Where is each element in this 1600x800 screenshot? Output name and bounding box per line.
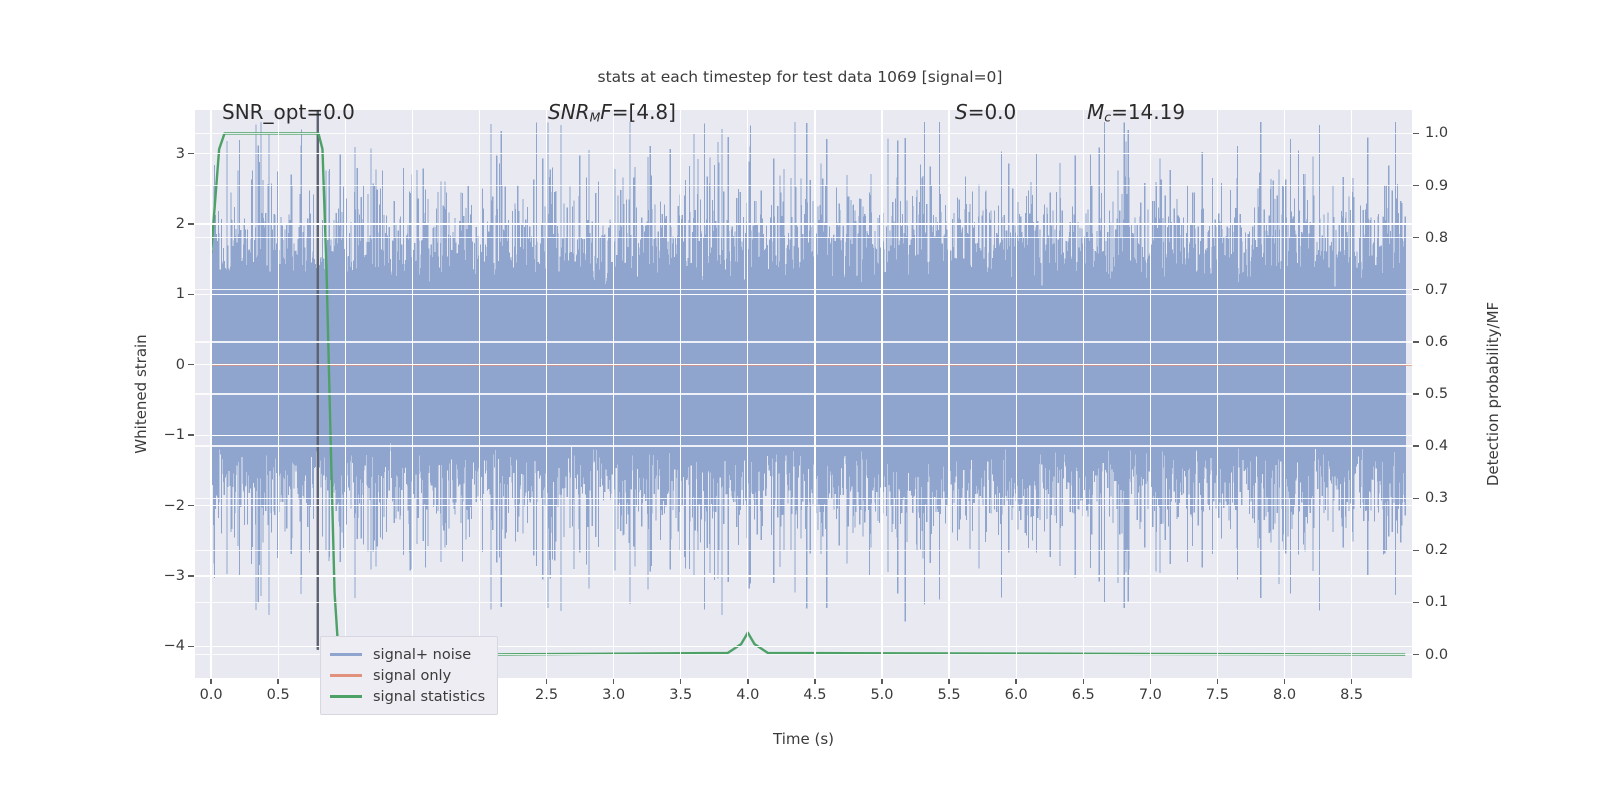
page-title: stats at each timestep for test data 106… — [0, 68, 1600, 86]
gridline-vertical — [479, 110, 480, 678]
gridline-horizontal — [195, 223, 1412, 224]
gridline-horizontal — [195, 505, 1412, 506]
gridline-horizontal-secondary — [195, 498, 1412, 499]
axis-tick — [188, 364, 194, 365]
x-tick-label: 4.5 — [803, 687, 826, 703]
axis-tick — [747, 679, 748, 684]
y-tick-label-right: 0.6 — [1425, 334, 1448, 350]
y-tick-label-left: 1 — [137, 286, 185, 302]
axis-tick — [188, 294, 194, 295]
x-tick-label: 8.5 — [1340, 687, 1363, 703]
annotation-mchirp: Mc=14.19 — [1087, 100, 1185, 125]
gridline-horizontal-secondary — [195, 289, 1412, 290]
gridline-horizontal-secondary — [195, 445, 1412, 446]
gridline-horizontal-secondary — [195, 185, 1412, 186]
axis-tick — [1150, 679, 1151, 684]
y-tick-label-right: 0.2 — [1425, 542, 1448, 558]
axis-tick — [1284, 679, 1285, 684]
y-tick-label-left: −3 — [137, 568, 185, 584]
gridline-vertical — [546, 110, 547, 678]
axis-tick — [948, 679, 949, 684]
axis-tick — [188, 434, 194, 435]
x-tick-label: 0.0 — [200, 687, 223, 703]
y-tick-label-left: −2 — [137, 498, 185, 514]
annotation-s-stat: S=0.0 — [955, 100, 1016, 124]
gridline-horizontal-secondary — [195, 393, 1412, 394]
gridline-vertical — [881, 110, 882, 678]
axis-tick — [1413, 393, 1419, 394]
axis-tick — [1413, 237, 1419, 238]
y-tick-label-left: 3 — [137, 146, 185, 162]
gridline-vertical — [1150, 110, 1151, 678]
axis-tick — [188, 153, 194, 154]
y-tick-label-right: 0.0 — [1425, 647, 1448, 663]
gridline-vertical — [814, 110, 815, 678]
legend-item[interactable]: signal only — [330, 665, 485, 686]
axis-tick — [1413, 289, 1419, 290]
gridline-vertical — [1083, 110, 1084, 678]
figure-canvas: stats at each timestep for test data 106… — [0, 0, 1600, 800]
gridline-horizontal — [195, 575, 1412, 576]
x-tick-label: 5.5 — [938, 687, 961, 703]
gridline-horizontal — [195, 153, 1412, 154]
x-tick-label: 3.5 — [669, 687, 692, 703]
axis-tick — [814, 679, 815, 684]
gridline-horizontal — [195, 435, 1412, 436]
noise-trace — [211, 122, 1405, 622]
legend-label: signal+ noise — [373, 647, 471, 663]
axis-tick — [188, 575, 194, 576]
series-signal-plus-noise — [211, 122, 1405, 622]
axis-tick — [1413, 498, 1419, 499]
axis-tick — [210, 679, 211, 684]
axis-tick — [1413, 341, 1419, 342]
chart-legend[interactable]: signal+ noisesignal onlysignal statistic… — [320, 636, 498, 715]
axis-tick — [277, 679, 278, 684]
gridline-horizontal — [195, 364, 1412, 365]
axis-tick — [1217, 679, 1218, 684]
x-tick-label: 7.0 — [1139, 687, 1162, 703]
y-tick-label-right: 0.3 — [1425, 490, 1448, 506]
axis-tick — [1413, 445, 1419, 446]
gridline-horizontal — [195, 294, 1412, 295]
gridline-vertical — [747, 110, 748, 678]
gridline-vertical — [210, 110, 211, 678]
x-tick-label: 3.0 — [602, 687, 625, 703]
axis-tick — [1413, 133, 1419, 134]
x-tick-label: 5.0 — [870, 687, 893, 703]
legend-label: signal only — [373, 668, 451, 684]
axis-tick — [1413, 185, 1419, 186]
y-tick-label-right: 1.0 — [1425, 125, 1448, 141]
gridline-vertical — [1217, 110, 1218, 678]
x-tick-label: 6.5 — [1072, 687, 1095, 703]
y-tick-label-right: 0.8 — [1425, 230, 1448, 246]
gridline-vertical — [613, 110, 614, 678]
gridline-vertical — [1351, 110, 1352, 678]
axis-tick — [188, 646, 194, 647]
y-tick-label-right: 0.4 — [1425, 438, 1448, 454]
y-axis-right-label: Detection probability/MF — [1484, 302, 1502, 486]
x-tick-label: 6.0 — [1005, 687, 1028, 703]
axis-tick — [1413, 550, 1419, 551]
gridline-vertical — [680, 110, 681, 678]
legend-swatch-icon — [330, 674, 362, 676]
legend-label: signal statistics — [373, 689, 485, 705]
axis-tick — [1351, 679, 1352, 684]
gridline-horizontal-secondary — [195, 341, 1412, 342]
gridline-vertical — [412, 110, 413, 678]
axis-tick — [613, 679, 614, 684]
axis-tick — [1015, 679, 1016, 684]
annotation-snr-mf: SNRMF=[4.8] — [548, 100, 676, 125]
gridline-horizontal-secondary — [195, 602, 1412, 603]
legend-item[interactable]: signal+ noise — [330, 644, 485, 665]
axis-tick — [1083, 679, 1084, 684]
annotation-snr-opt: SNR_opt=0.0 — [222, 100, 355, 124]
gridline-vertical — [948, 110, 949, 678]
legend-swatch-icon — [330, 695, 362, 697]
x-tick-label: 4.0 — [736, 687, 759, 703]
gridline-vertical — [1016, 110, 1017, 678]
gridline-vertical — [278, 110, 279, 678]
axis-tick — [546, 679, 547, 684]
y-tick-label-right: 0.5 — [1425, 386, 1448, 402]
x-tick-label: 8.0 — [1273, 687, 1296, 703]
y-tick-label-right: 0.7 — [1425, 282, 1448, 298]
legend-swatch-icon — [330, 653, 362, 655]
x-axis-label: Time (s) — [195, 730, 1412, 748]
x-tick-label: 7.5 — [1206, 687, 1229, 703]
gridline-horizontal-secondary — [195, 237, 1412, 238]
x-tick-label: 0.5 — [267, 687, 290, 703]
gridline-horizontal-secondary — [195, 550, 1412, 551]
axis-tick — [881, 679, 882, 684]
gridline-horizontal-secondary — [195, 133, 1412, 134]
axis-tick — [188, 223, 194, 224]
y-tick-label-left: −4 — [137, 638, 185, 654]
gridline-vertical — [1284, 110, 1285, 678]
axis-tick — [188, 505, 194, 506]
y-axis-left-label: Whitened strain — [132, 334, 150, 453]
x-tick-label: 2.5 — [535, 687, 558, 703]
y-tick-label-left: 2 — [137, 216, 185, 232]
y-tick-label-right: 0.1 — [1425, 594, 1448, 610]
legend-item[interactable]: signal statistics — [330, 686, 485, 707]
plot-area[interactable] — [195, 110, 1412, 678]
gridline-vertical — [345, 110, 346, 678]
y-tick-label-right: 0.9 — [1425, 178, 1448, 194]
axis-tick — [680, 679, 681, 684]
axis-tick — [1413, 602, 1419, 603]
axis-tick — [1413, 654, 1419, 655]
